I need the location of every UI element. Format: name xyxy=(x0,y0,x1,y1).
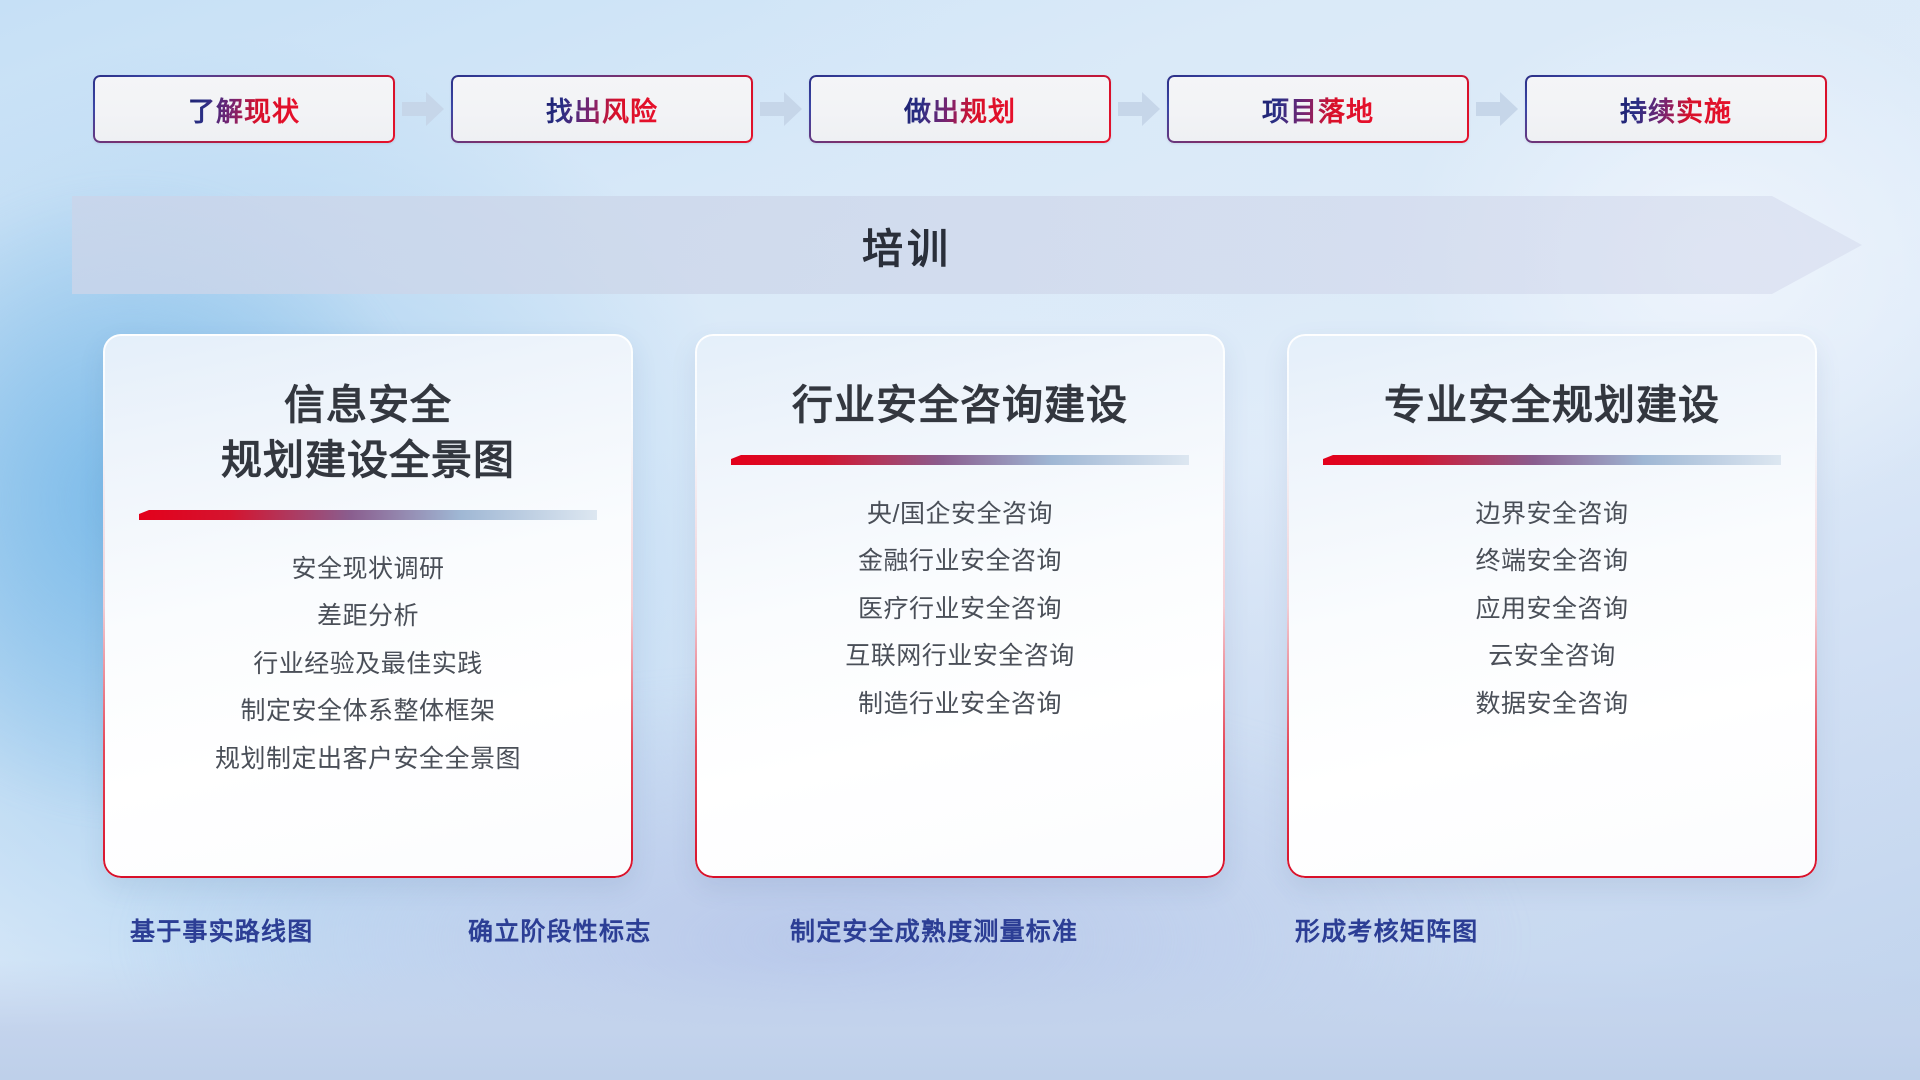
card-information-security[interactable]: 信息安全 规划建设全景图 安全现状调研 差距分析 行业经验及最佳实践 xyxy=(103,334,633,878)
card-2-divider-icon xyxy=(731,455,1189,471)
list-item: 安全现状调研 xyxy=(291,552,444,587)
list-item: 终端安全咨询 xyxy=(1475,544,1628,579)
process-step-5[interactable]: 持续实施 xyxy=(1525,75,1827,143)
process-step-row: 了解现状 找出风险 做出规划 项目落地 持续实施 xyxy=(0,74,1920,144)
card-3-title: 专业安全规划建设 xyxy=(1321,378,1783,433)
bottom-label-1: 基于事实路线图 xyxy=(130,912,313,948)
step-arrow-icon-1 xyxy=(395,75,451,143)
card-industry-security-consulting[interactable]: 行业安全咨询建设 央/国企安全咨询 金融行业安全咨询 医疗行业安全咨询 xyxy=(695,334,1225,878)
bottom-label-2: 确立阶段性标志 xyxy=(468,912,651,948)
process-step-1[interactable]: 了解现状 xyxy=(93,75,395,143)
card-1-title: 信息安全 规划建设全景图 xyxy=(137,378,599,488)
background-bottom-band xyxy=(0,960,1920,1080)
list-item: 金融行业安全咨询 xyxy=(858,544,1062,579)
process-step-1-label: 了解现状 xyxy=(188,90,300,129)
list-item: 边界安全咨询 xyxy=(1475,497,1628,532)
training-banner-label: 培训 xyxy=(72,196,1742,294)
process-step-4-label: 项目落地 xyxy=(1262,90,1374,129)
list-item: 规划制定出客户安全全景图 xyxy=(215,742,521,777)
card-3-list: 边界安全咨询 终端安全咨询 应用安全咨询 云安全咨询 数据安全咨询 xyxy=(1321,497,1783,722)
list-item: 差距分析 xyxy=(317,599,419,634)
process-step-2[interactable]: 找出风险 xyxy=(451,75,753,143)
training-banner: 培训 xyxy=(72,196,1862,294)
list-item: 数据安全咨询 xyxy=(1475,687,1628,722)
bottom-label-row: 基于事实路线图 确立阶段性标志 制定安全成熟度测量标准 形成考核矩阵图 xyxy=(0,912,1920,968)
process-step-4[interactable]: 项目落地 xyxy=(1167,75,1469,143)
card-2-list: 央/国企安全咨询 金融行业安全咨询 医疗行业安全咨询 互联网行业安全咨询 制造行… xyxy=(729,497,1191,722)
list-item: 云安全咨询 xyxy=(1488,639,1616,674)
process-step-3[interactable]: 做出规划 xyxy=(809,75,1111,143)
card-1-divider-icon xyxy=(139,510,597,526)
card-1-list: 安全现状调研 差距分析 行业经验及最佳实践 制定安全体系整体框架 规划制定出客户… xyxy=(137,552,599,777)
list-item: 应用安全咨询 xyxy=(1475,592,1628,627)
list-item: 央/国企安全咨询 xyxy=(867,497,1053,532)
bottom-label-3: 制定安全成熟度测量标准 xyxy=(790,912,1078,948)
step-arrow-icon-4 xyxy=(1469,75,1525,143)
bottom-label-4: 形成考核矩阵图 xyxy=(1295,912,1478,948)
list-item: 制定安全体系整体框架 xyxy=(240,694,495,729)
card-3-divider-icon xyxy=(1323,455,1781,471)
list-item: 医疗行业安全咨询 xyxy=(858,592,1062,627)
process-step-5-label: 持续实施 xyxy=(1620,90,1732,129)
step-arrow-icon-3 xyxy=(1111,75,1167,143)
process-step-2-label: 找出风险 xyxy=(546,90,658,129)
card-2-title: 行业安全咨询建设 xyxy=(729,378,1191,433)
list-item: 制造行业安全咨询 xyxy=(858,687,1062,722)
card-row: 信息安全 规划建设全景图 安全现状调研 差距分析 行业经验及最佳实践 xyxy=(0,334,1920,874)
process-step-3-label: 做出规划 xyxy=(904,90,1016,129)
step-arrow-icon-2 xyxy=(753,75,809,143)
list-item: 行业经验及最佳实践 xyxy=(253,647,483,682)
list-item: 互联网行业安全咨询 xyxy=(845,639,1075,674)
card-professional-security-planning[interactable]: 专业安全规划建设 边界安全咨询 终端安全咨询 应用安全咨询 云安全 xyxy=(1287,334,1817,878)
